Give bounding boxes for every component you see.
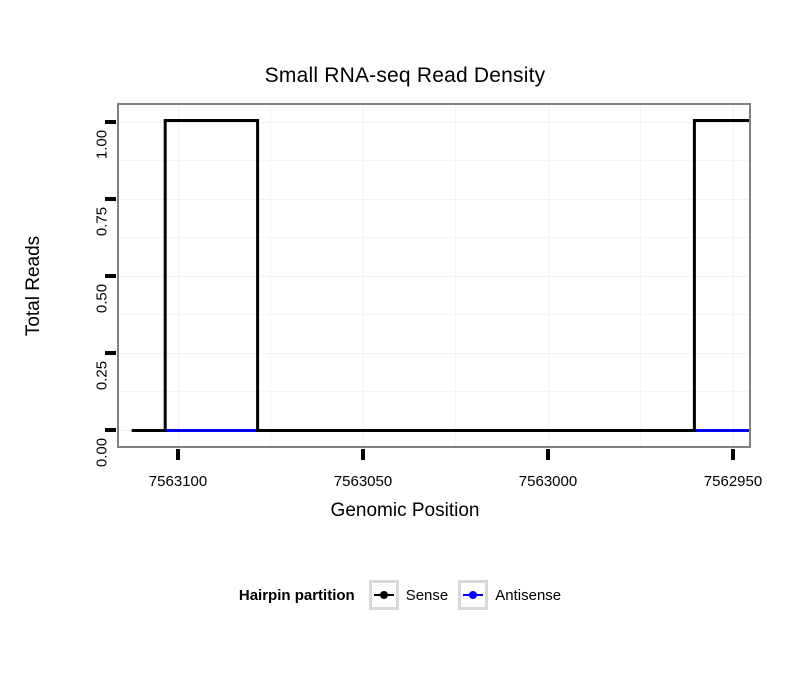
- legend-entry-sense[interactable]: Sense: [369, 580, 449, 610]
- chart-figure: Small RNA-seq Read Density Total Reads 1…: [0, 0, 810, 690]
- legend-key-antisense: [458, 580, 488, 610]
- x-tick-label: 7563100: [149, 473, 207, 490]
- x-tick-label: 7563000: [519, 473, 577, 490]
- x-tick-mark: [361, 449, 365, 460]
- y-tick-label: 0.00: [94, 432, 111, 474]
- legend-title: Hairpin partition: [239, 587, 355, 604]
- x-tick-mark: [176, 449, 180, 460]
- x-tick-label: 7562950: [704, 473, 762, 490]
- y-tick-label: 0.75: [94, 201, 111, 243]
- chart-legend: Hairpin partition Sense Antisense: [0, 580, 810, 610]
- y-tick-label: 0.25: [94, 355, 111, 397]
- legend-entry-antisense[interactable]: Antisense: [458, 580, 561, 610]
- x-tick-mark: [731, 449, 735, 460]
- legend-label-sense: Sense: [406, 587, 449, 604]
- series-line-sense: [132, 121, 749, 431]
- legend-key-sense: [369, 580, 399, 610]
- y-axis-title: Total Reads: [23, 236, 45, 336]
- plot-panel: [117, 103, 751, 448]
- y-tick-label: 1.00: [94, 124, 111, 166]
- legend-key-point-antisense: [469, 591, 477, 599]
- y-tick-label: 0.50: [94, 278, 111, 320]
- x-tick-label: 7563050: [334, 473, 392, 490]
- chart-title: Small RNA-seq Read Density: [0, 64, 810, 88]
- x-axis-title: Genomic Position: [0, 500, 810, 522]
- legend-key-point-sense: [380, 591, 388, 599]
- x-tick-mark: [546, 449, 550, 460]
- plot-inner: [119, 105, 749, 446]
- legend-label-antisense: Antisense: [495, 587, 561, 604]
- data-layer: [119, 105, 749, 446]
